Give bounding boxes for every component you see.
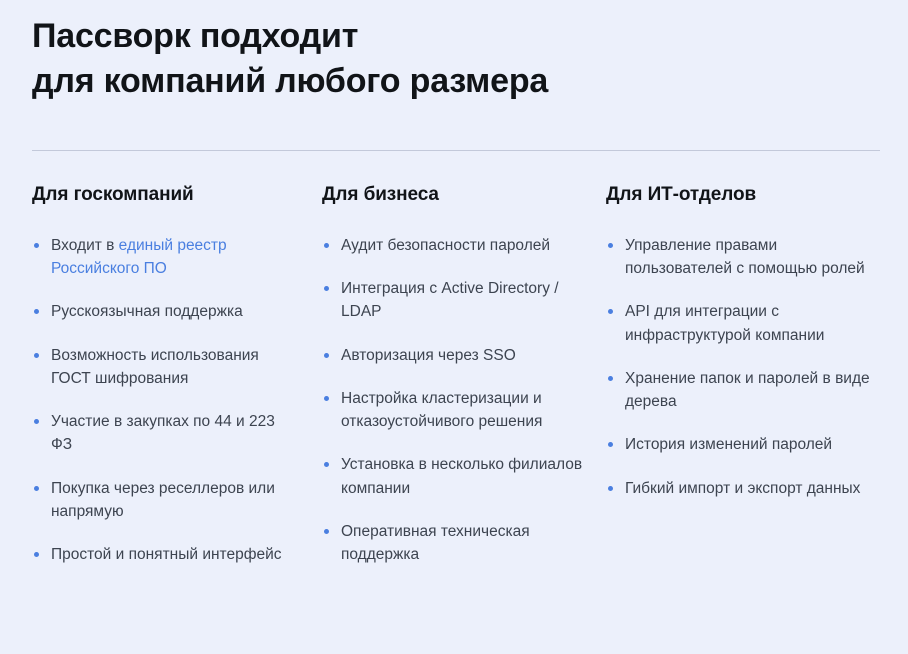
list-item-text: API для интеграции с инфраструктурой ком… [625, 303, 824, 343]
bullet-icon [324, 462, 329, 467]
list-item: Интеграция с Active Directory / LDAP [322, 277, 584, 324]
column-title-business: Для бизнеса [322, 184, 584, 207]
bullet-icon [34, 353, 39, 358]
list-item-text: Аудит безопасности паролей [341, 237, 550, 254]
bullet-icon [324, 396, 329, 401]
list-item: Авторизация через SSO [322, 344, 584, 367]
feature-columns: Для госкомпаний Входит в единый реестр Р… [32, 184, 880, 566]
bullet-icon [324, 529, 329, 534]
column-title-it: Для ИТ-отделов [606, 184, 880, 207]
list-item: Гибкий импорт и экспорт данных [606, 477, 880, 500]
bullet-icon [324, 353, 329, 358]
list-item: Простой и понятный интерфейс [32, 543, 300, 566]
list-item-text: Оперативная техническая поддержка [341, 523, 530, 563]
page-title: Пассворк подходит для компаний любого ра… [32, 14, 548, 104]
bullet-icon [34, 243, 39, 248]
bullet-icon [34, 309, 39, 314]
list-item-text: Установка в несколько филиалов компании [341, 456, 582, 496]
feature-list-gov: Входит в единый реестр Российского ПО Ру… [32, 234, 300, 567]
feature-column-it: Для ИТ-отделов Управление правами пользо… [606, 184, 880, 566]
bullet-icon [324, 286, 329, 291]
bullet-icon [34, 486, 39, 491]
page-root: Пассворк подходит для компаний любого ра… [0, 0, 908, 654]
list-item: Покупка через реселлеров или напрямую [32, 477, 300, 524]
list-item: Входит в единый реестр Российского ПО [32, 234, 300, 281]
list-item-text: Управление правами пользователей с помощ… [625, 237, 865, 277]
list-item: История изменений паролей [606, 433, 880, 456]
list-item-text: Хранение папок и паролей в виде дерева [625, 370, 870, 410]
list-item-text: Русскоязычная поддержка [51, 303, 243, 320]
list-item-text: Участие в закупках по 44 и 223 ФЗ [51, 413, 275, 453]
list-item: Оперативная техническая поддержка [322, 520, 584, 567]
list-item: Хранение папок и паролей в виде дерева [606, 367, 880, 414]
bullet-icon [608, 309, 613, 314]
bullet-icon [34, 419, 39, 424]
list-item: Участие в закупках по 44 и 223 ФЗ [32, 410, 300, 457]
list-item-text: Возможность использования ГОСТ шифровани… [51, 347, 259, 387]
list-item: Аудит безопасности паролей [322, 234, 584, 257]
bullet-icon [608, 442, 613, 447]
bullet-icon [324, 243, 329, 248]
feature-list-business: Аудит безопасности паролей Интеграция с … [322, 234, 584, 567]
list-item: Управление правами пользователей с помощ… [606, 234, 880, 281]
feature-column-gov: Для госкомпаний Входит в единый реестр Р… [32, 184, 322, 566]
bullet-icon [608, 376, 613, 381]
list-item-text: Гибкий импорт и экспорт данных [625, 480, 860, 497]
list-item: Установка в несколько филиалов компании [322, 453, 584, 500]
column-title-gov: Для госкомпаний [32, 184, 300, 207]
list-item-text: Входит в [51, 237, 119, 254]
list-item-text: Простой и понятный интерфейс [51, 546, 282, 563]
list-item-text: История изменений паролей [625, 436, 832, 453]
feature-list-it: Управление правами пользователей с помощ… [606, 234, 880, 500]
list-item-text: Интеграция с Active Directory / LDAP [341, 280, 559, 320]
bullet-icon [34, 552, 39, 557]
list-item-text: Покупка через реселлеров или напрямую [51, 480, 275, 520]
feature-column-business: Для бизнеса Аудит безопасности паролей И… [322, 184, 606, 566]
list-item: Возможность использования ГОСТ шифровани… [32, 344, 300, 391]
list-item: API для интеграции с инфраструктурой ком… [606, 300, 880, 347]
bullet-icon [608, 486, 613, 491]
bullet-icon [608, 243, 613, 248]
list-item-text: Авторизация через SSO [341, 347, 516, 364]
list-item-text: Настройка кластеризации и отказоустойчив… [341, 390, 542, 430]
list-item: Настройка кластеризации и отказоустойчив… [322, 387, 584, 434]
section-divider [32, 150, 880, 151]
list-item: Русскоязычная поддержка [32, 300, 300, 323]
